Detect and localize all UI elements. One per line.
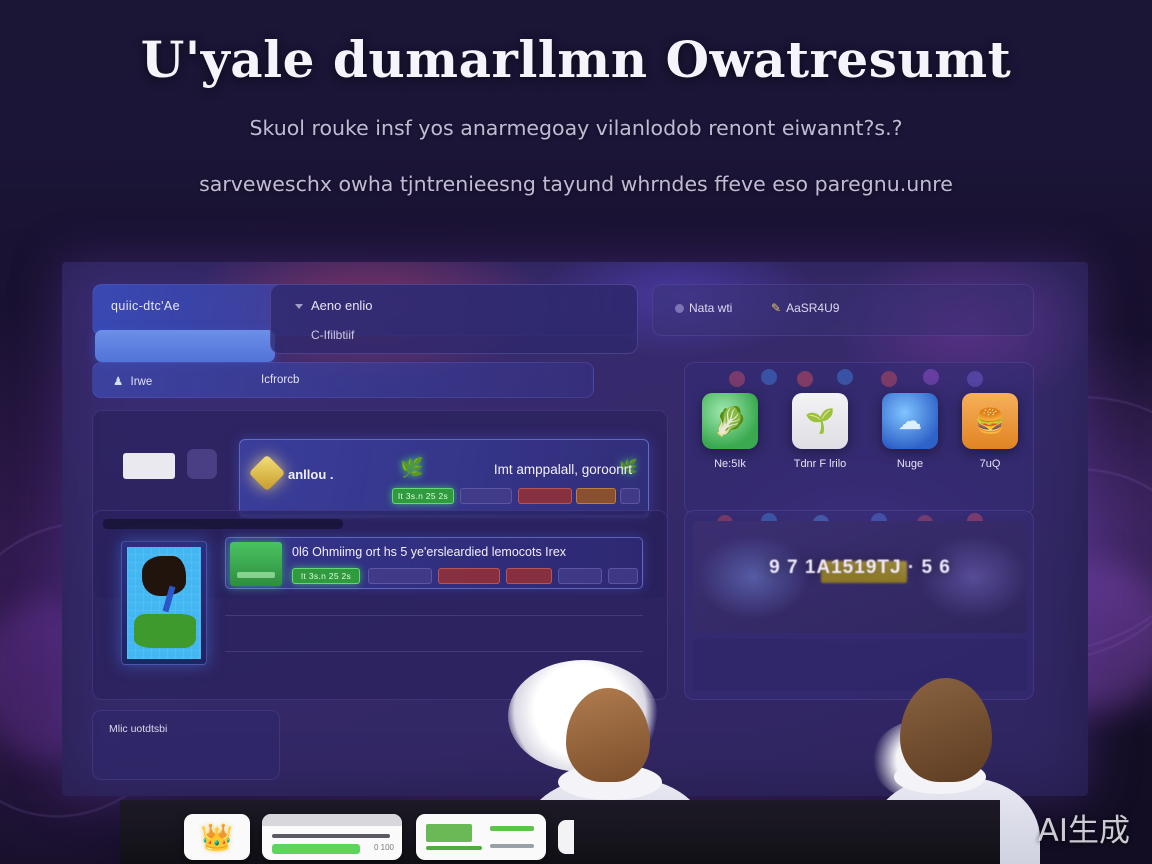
dropdown-menu[interactable]: Aeno enlio C-Ifilbtiif	[270, 284, 638, 354]
list-item-title: 0l6 Ohmiimg ort hs 5 ye'ersleardied lemo…	[292, 545, 566, 559]
watermark: AI生成	[1038, 805, 1130, 850]
app-tile-1[interactable]: 🌱 Tdnr F lrilo	[789, 393, 851, 470]
panel-header-bar	[103, 519, 343, 529]
list-badge-3	[506, 568, 552, 584]
list-item-card[interactable]: 0l6 Ohmiimg ort hs 5 ye'ersleardied lemo…	[225, 537, 643, 589]
row-badge-2	[518, 488, 572, 504]
taskbar-card-edge[interactable]	[558, 820, 574, 854]
person-icon: ♟	[113, 374, 123, 388]
micro-icon	[837, 369, 853, 385]
list-badge-0: It 3s.n 25 2s	[292, 568, 360, 584]
tab-bar[interactable]: ♟ Irwe Icfrorcb	[92, 362, 594, 398]
sprout-icon: 🌱	[792, 393, 848, 449]
diamond-icon	[249, 455, 286, 492]
micro-icon	[923, 369, 939, 385]
card-line	[490, 826, 534, 831]
app-label-2: Nuge	[879, 458, 941, 470]
mini-card[interactable]: Mlic uotdtsbi	[92, 710, 280, 780]
app-label-1: Tdnr F lrilo	[789, 458, 851, 470]
pencil-icon: ✎	[771, 301, 781, 315]
list-badge-4	[558, 568, 602, 584]
row-badge-1	[460, 488, 512, 504]
dot-icon	[675, 304, 684, 313]
app-tile-2[interactable]: ☁ Nuge	[879, 393, 941, 470]
leaf-icon: 🌿	[400, 456, 424, 480]
micro-icon	[761, 369, 777, 385]
featured-row-card[interactable]: anllou . 🌿 🌿 Imt amppalall, goroonrt It …	[239, 439, 649, 517]
selected-menu-chip[interactable]	[95, 330, 275, 362]
app-tile-3[interactable]: 🍔 7uQ	[959, 393, 1021, 470]
card-line	[426, 846, 482, 850]
app-tile-0[interactable]: 🥬 Ne:5Ik	[699, 393, 761, 470]
taskbar: 👑 0 100	[120, 800, 1000, 864]
page-root: U'yale dumarllmn Owatresumt Skuol rouke …	[0, 0, 1152, 864]
list-divider	[225, 615, 643, 616]
burger-icon: 🍔	[962, 393, 1018, 449]
toolbar-secondary-label-1: Nata wti	[689, 301, 732, 315]
progress-bar	[272, 844, 360, 854]
thumbnail-placeholder	[123, 453, 175, 479]
green-plant-thumb-icon	[230, 542, 282, 586]
menu-item-1[interactable]: Aeno enlio	[311, 298, 372, 313]
micro-icon	[967, 371, 983, 387]
thumbnail-square[interactable]	[187, 449, 217, 479]
apps-panel: 🥬 Ne:5Ik 🌱 Tdnr F lrilo ☁ Nuge 🍔 7uQ	[684, 362, 1034, 514]
row-badge-3	[576, 488, 616, 504]
toolbar-secondary-item-1[interactable]: Nata wti	[675, 301, 732, 315]
card-header-strip	[262, 814, 402, 826]
micro-icon	[797, 371, 813, 387]
menu-item-2[interactable]: C-Ifilbtiif	[311, 328, 354, 342]
map-landmass-green	[134, 614, 196, 648]
row-badge-0: It 3s.n 25 2s	[392, 488, 454, 504]
page-subtitle-line-1: Skuol rouke insf yos anarmegoay vilanlod…	[0, 113, 1152, 145]
media-number-overlay: 9 7 1A1519TJ · 5 6	[693, 557, 1027, 579]
app-label-0: Ne:5Ik	[699, 458, 761, 470]
micro-icon	[729, 371, 745, 387]
card-line	[272, 834, 390, 838]
leafy-green-icon: 🥬	[702, 393, 758, 449]
tab-label-1: Icfrorcb	[261, 374, 299, 386]
map-landmass-dark	[142, 556, 186, 596]
cloud-icon: ☁	[882, 393, 938, 449]
map-thumbnail-icon[interactable]	[121, 541, 207, 665]
list-badge-5	[608, 568, 638, 584]
toolbar-secondary-label-2: AaSR4U9	[786, 301, 839, 315]
card-line	[490, 844, 534, 848]
taskbar-card-2[interactable]: 0 100	[262, 814, 402, 860]
tab-label-0: Irwe	[131, 376, 153, 388]
child-hair	[900, 678, 992, 782]
tab-item-1[interactable]: Icfrorcb	[261, 374, 299, 386]
micro-icon	[881, 371, 897, 387]
list-divider	[225, 651, 643, 652]
page-title: U'yale dumarllmn Owatresumt	[0, 30, 1152, 89]
gold-crown-icon: 👑	[201, 822, 233, 853]
list-badge-1	[368, 568, 432, 584]
media-preview[interactable]: 9 7 1A1519TJ · 5 6	[693, 521, 1027, 633]
toolbar-primary-label: quiic-dtc'Ae	[111, 299, 180, 313]
row-card-label: anllou .	[288, 467, 334, 482]
caret-down-icon	[295, 304, 303, 309]
list-badge-2	[438, 568, 500, 584]
mini-card-title: Mlic uotdtsbi	[109, 723, 167, 735]
row-badge-4	[620, 488, 640, 504]
green-sprout-icon	[426, 824, 472, 842]
header: U'yale dumarllmn Owatresumt Skuol rouke …	[0, 0, 1152, 250]
progress-label: 0 100	[374, 843, 394, 852]
tab-item-0[interactable]: ♟ Irwe	[113, 374, 152, 388]
taskbar-card-3[interactable]	[416, 814, 546, 860]
app-label-3: 7uQ	[959, 458, 1021, 470]
toolbar-secondary[interactable]: Nata wti ✎ AaSR4U9	[652, 284, 1034, 336]
row-card-title: Imt amppalall, goroonrt	[494, 462, 632, 477]
taskbar-card-1[interactable]: 👑	[184, 814, 250, 860]
toolbar-secondary-item-2[interactable]: ✎ AaSR4U9	[771, 301, 839, 315]
page-subtitle-line-2: sarveweschx owha tjntrenieesng tayund wh…	[0, 169, 1152, 201]
